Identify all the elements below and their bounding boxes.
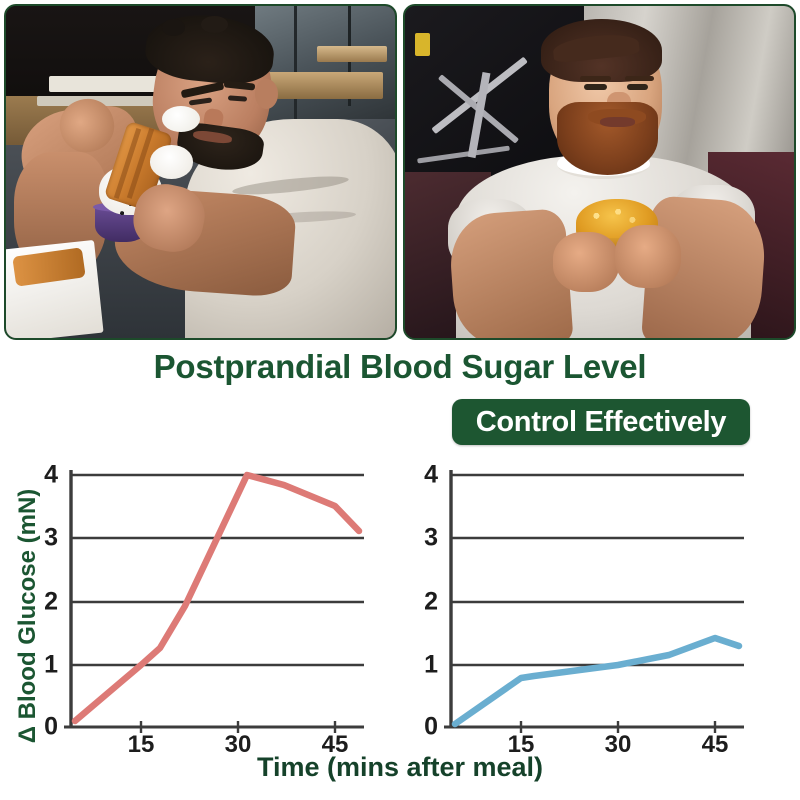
eye-left (584, 84, 607, 90)
badge-label: Control Effectively (476, 406, 727, 439)
series-line-controlled (455, 638, 739, 724)
whipped-cream-on-churro (150, 145, 193, 178)
series-line-uncontrolled (75, 475, 359, 721)
photo-bearded-man-eating-burger (403, 4, 796, 340)
wooden-shelf-upper (317, 46, 387, 63)
control-effectively-badge: Control Effectively (452, 399, 750, 445)
right-hand (615, 225, 681, 288)
eye-right (627, 84, 648, 90)
page-title: Postprandial Blood Sugar Level (0, 348, 800, 386)
chart-svg-left (34, 452, 364, 742)
headboard-plank (49, 76, 158, 93)
eyebrow-right (625, 76, 654, 81)
eyebrow-left (580, 76, 611, 81)
left-hand (553, 232, 619, 292)
photo-man-eating-churro-on-couch (4, 4, 397, 340)
window (255, 6, 395, 132)
hair-curl-secondary (201, 16, 228, 33)
window-mullion (294, 6, 297, 132)
chart-uncontrolled-blood-glucose: 0 1 2 3 4 15 30 45 (34, 452, 364, 742)
photo-comparison-row (0, 0, 800, 344)
hair-curl (162, 19, 185, 36)
mouth (600, 117, 635, 127)
yellow-object (415, 33, 431, 56)
gridlines-left (71, 475, 364, 665)
chart-controlled-blood-glucose: 0 1 2 3 4 15 30 45 (414, 452, 744, 742)
ear (255, 79, 278, 109)
charts-area: Δ Blood Glucose (mN) 0 1 2 3 4 15 30 45 (0, 452, 800, 800)
x-axis-label: Time (mins after meal) (0, 752, 800, 783)
chart-svg-right (414, 452, 744, 742)
gridlines-right (451, 475, 744, 665)
